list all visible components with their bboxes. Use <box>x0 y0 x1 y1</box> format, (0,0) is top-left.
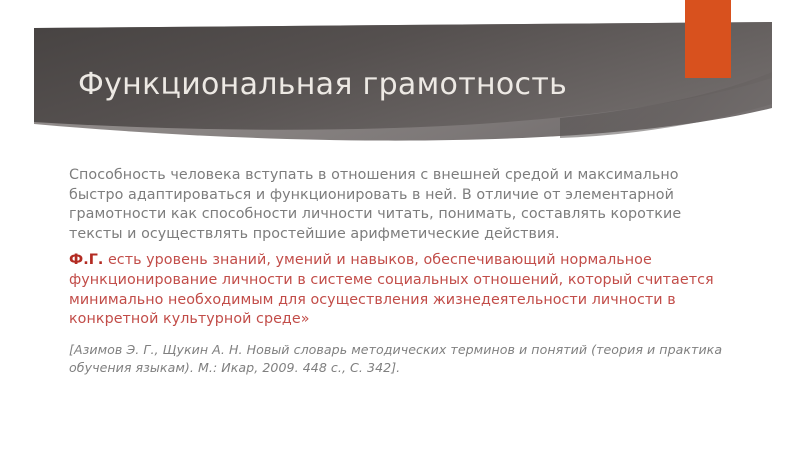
slide-title: Функциональная грамотность <box>78 66 718 104</box>
quote-lead-abbreviation: Ф.Г. <box>69 252 103 268</box>
slide-body: Способность человека вступать в отношени… <box>69 166 737 384</box>
presentation-slide: Функциональная грамотность Способность ч… <box>0 0 800 450</box>
quote-body-text: есть уровень знаний, умений и навыков, о… <box>69 252 714 327</box>
source-citation: [Азимов Э. Г., Щукин А. Н. Новый словарь… <box>69 341 737 377</box>
body-paragraph-quote: Ф.Г. есть уровень знаний, умений и навык… <box>69 251 737 329</box>
body-paragraph-definition: Способность человека вступать в отношени… <box>69 166 737 244</box>
